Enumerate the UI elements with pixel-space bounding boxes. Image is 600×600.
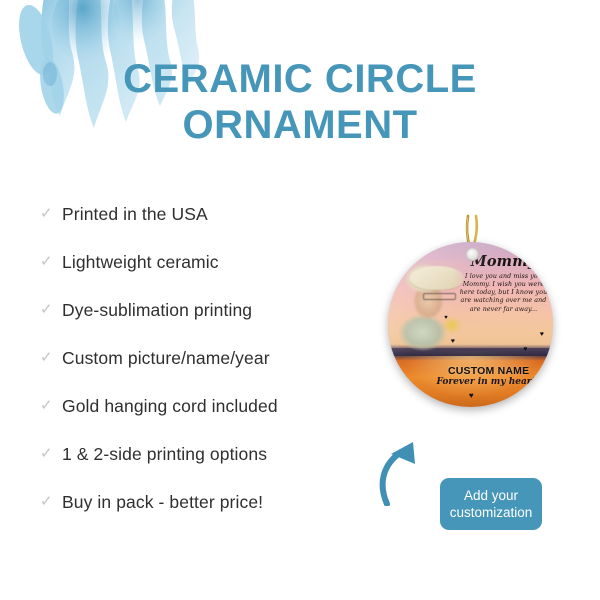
check-icon: ✓ bbox=[40, 302, 62, 317]
check-icon: ✓ bbox=[40, 254, 62, 269]
product-feature-graphic: CERAMIC CIRCLE ORNAMENT ✓ Printed in the… bbox=[0, 0, 600, 600]
eyeglasses bbox=[423, 293, 456, 299]
list-item: ✓ Lightweight ceramic bbox=[40, 238, 370, 286]
cord-hole bbox=[466, 248, 479, 261]
feature-label: Custom picture/name/year bbox=[62, 348, 270, 369]
list-item: ✓ 1 & 2-side printing options bbox=[40, 430, 370, 478]
page-title: CERAMIC CIRCLE ORNAMENT bbox=[100, 56, 500, 148]
feature-label: 1 & 2-side printing options bbox=[62, 444, 267, 465]
ornament-poem: I love you and miss you Mommy. I wish yo… bbox=[457, 273, 549, 314]
feature-label: Lightweight ceramic bbox=[62, 252, 219, 273]
add-customization-button[interactable]: Add your customization bbox=[440, 478, 542, 530]
ornament-message: Mommy I love you and miss you Mommy. I w… bbox=[457, 255, 549, 314]
check-icon: ✓ bbox=[40, 446, 62, 461]
custom-name-text: CUSTOM NAME bbox=[431, 365, 547, 377]
feature-label: Printed in the USA bbox=[62, 204, 208, 225]
heart-icon: ♥ bbox=[444, 315, 448, 321]
title-line-2: ORNAMENT bbox=[100, 102, 500, 148]
feature-label: Buy in pack - better price! bbox=[62, 492, 263, 513]
feature-label: Gold hanging cord included bbox=[62, 396, 278, 417]
check-icon: ✓ bbox=[40, 350, 62, 365]
list-item: ✓ Custom picture/name/year bbox=[40, 334, 370, 382]
ceramic-circle-ornament: Mommy I love you and miss you Mommy. I w… bbox=[388, 242, 553, 407]
heart-icon: ♥ bbox=[451, 338, 455, 345]
feature-list: ✓ Printed in the USA ✓ Lightweight ceram… bbox=[40, 190, 370, 526]
cta-line-2: customization bbox=[450, 504, 533, 521]
feature-label: Dye-sublimation printing bbox=[62, 300, 252, 321]
heart-icon: ♥ bbox=[469, 391, 474, 400]
check-icon: ✓ bbox=[40, 206, 62, 221]
curved-arrow-up-icon bbox=[375, 438, 435, 506]
cta-line-1: Add your bbox=[464, 487, 518, 504]
check-icon: ✓ bbox=[40, 494, 62, 509]
check-icon: ✓ bbox=[40, 398, 62, 413]
list-item: ✓ Dye-sublimation printing bbox=[40, 286, 370, 334]
sun-hat bbox=[410, 266, 464, 290]
heart-icon: ♥ bbox=[540, 331, 544, 338]
list-item: ✓ Printed in the USA bbox=[40, 190, 370, 238]
ornament-tagline: Forever in my hearts bbox=[431, 377, 547, 387]
list-item: ✓ Buy in pack - better price! bbox=[40, 478, 370, 526]
product-image: Mommy I love you and miss you Mommy. I w… bbox=[383, 214, 558, 434]
list-item: ✓ Gold hanging cord included bbox=[40, 382, 370, 430]
heart-icon: ♥ bbox=[523, 346, 527, 353]
title-line-1: CERAMIC CIRCLE bbox=[100, 56, 500, 102]
